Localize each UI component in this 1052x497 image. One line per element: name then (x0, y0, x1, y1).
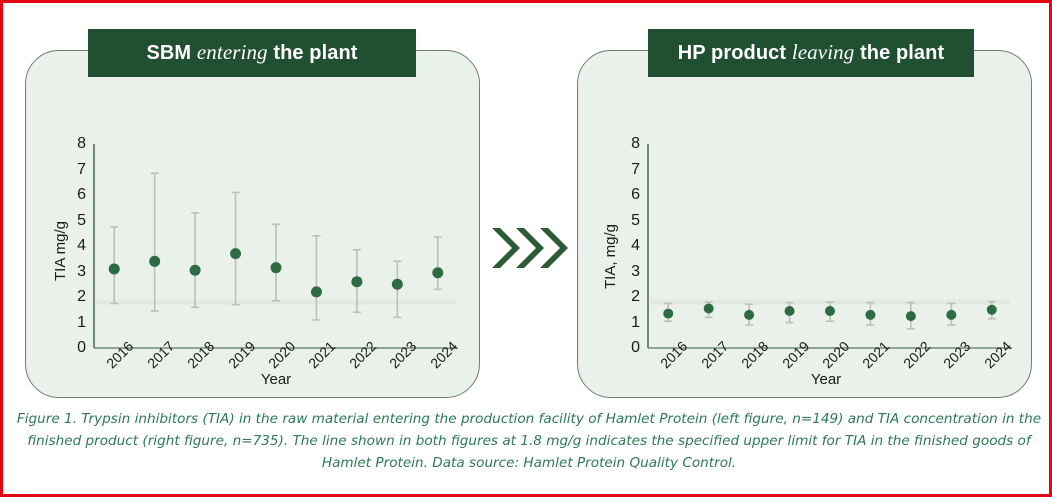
data-point-marker (109, 263, 120, 274)
data-point-group (432, 237, 443, 289)
panel-sbm-entering: 0123456782016201720182019202020212022202… (25, 50, 480, 398)
y-axis-tick: 4 (618, 238, 640, 254)
data-point-marker (785, 306, 795, 316)
data-point-group (311, 236, 322, 320)
y-axis-tick: 0 (64, 340, 86, 356)
y-axis-tick: 0 (618, 340, 640, 356)
y-axis-label-left: TIA mg/g (52, 221, 69, 281)
data-point-group (149, 173, 160, 311)
data-point-marker (946, 310, 956, 320)
data-point-marker (865, 310, 875, 320)
data-point-marker (663, 309, 673, 319)
data-point-marker (230, 248, 241, 259)
figure-caption: Figure 1. Trypsin inhibitors (TIA) in th… (15, 408, 1043, 474)
y-axis-tick: 6 (64, 187, 86, 203)
chart-sbm-entering: 0123456782016201720182019202020212022202… (26, 51, 481, 399)
data-point-marker (906, 311, 916, 321)
figure-container: 0123456782016201720182019202020212022202… (0, 0, 1052, 497)
y-axis-tick: 5 (618, 213, 640, 229)
data-point-marker (149, 256, 160, 267)
panel-hp-leaving: 0123456782016201720182019202020212022202… (577, 50, 1032, 398)
data-point-group (785, 303, 795, 323)
data-point-group (109, 227, 120, 304)
data-point-marker (351, 276, 362, 287)
y-axis-tick: 1 (618, 315, 640, 331)
chart-hp-leaving: 0123456782016201720182019202020212022202… (578, 51, 1033, 399)
data-point-group (906, 303, 916, 329)
y-axis-tick: 3 (618, 264, 640, 280)
y-axis-tick: 6 (618, 187, 640, 203)
y-axis-tick: 2 (64, 289, 86, 305)
data-point-group (230, 192, 241, 304)
panel-title-pre: SBM (146, 42, 196, 64)
data-point-marker (311, 286, 322, 297)
panel-title-hp-leaving: HP product leaving the plant (648, 29, 974, 77)
y-axis-tick: 7 (64, 162, 86, 178)
data-point-marker (744, 310, 754, 320)
data-point-marker (987, 305, 997, 315)
y-axis-tick: 1 (64, 315, 86, 331)
data-point-group (392, 261, 403, 317)
data-point-group (190, 213, 201, 307)
panel-title-emphasis: entering (197, 40, 268, 64)
panel-title-sbm-entering: SBM entering the plant (88, 29, 416, 77)
data-point-marker (704, 303, 714, 313)
y-axis-tick: 8 (64, 136, 86, 152)
data-point-marker (271, 262, 282, 273)
data-point-group (865, 303, 875, 325)
triple-chevron-right-icon (490, 224, 568, 272)
y-axis-tick: 8 (618, 136, 640, 152)
panel-title-post: the plant (268, 42, 358, 64)
data-point-group (744, 304, 754, 325)
panel-title-emphasis: leaving (792, 40, 855, 64)
x-axis-label-left: Year (176, 371, 376, 388)
y-axis-tick: 2 (618, 289, 640, 305)
y-axis-label-right: TIA, mg/g (602, 224, 619, 289)
data-point-marker (432, 267, 443, 278)
y-axis-tick: 7 (618, 162, 640, 178)
panel-title-pre: HP product (678, 42, 792, 64)
data-point-group (825, 302, 835, 321)
data-point-group (663, 303, 673, 321)
x-axis-label-right: Year (726, 371, 926, 388)
panel-title-post: the plant (854, 42, 944, 64)
data-point-marker (190, 265, 201, 276)
data-point-group (271, 224, 282, 301)
data-point-marker (392, 279, 403, 290)
data-point-group (946, 303, 956, 325)
data-point-marker (825, 306, 835, 316)
